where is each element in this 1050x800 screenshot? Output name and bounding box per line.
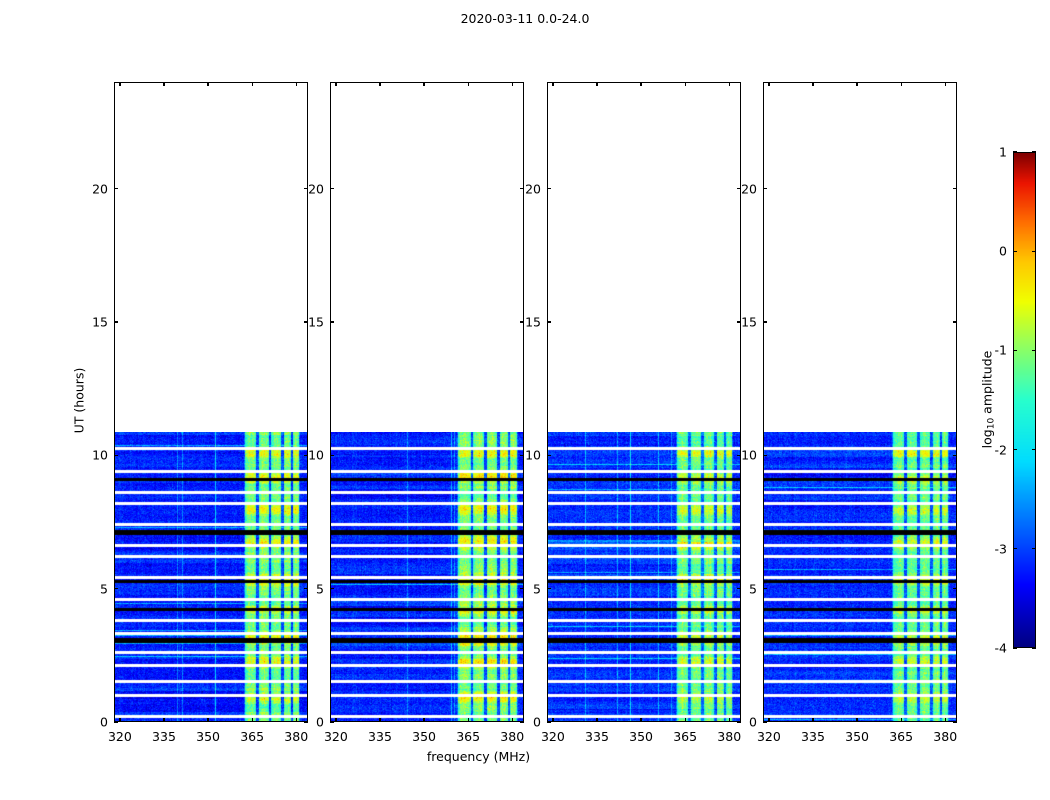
y-tick-label: 20 <box>729 181 757 196</box>
x-tick-mark <box>163 82 164 86</box>
y-tick-mark <box>763 588 767 589</box>
y-tick-mark <box>330 455 334 456</box>
colorbar-tick-label: 0 <box>977 244 1007 259</box>
x-tick-mark <box>335 718 336 722</box>
x-tick-mark <box>640 82 641 86</box>
x-axis-label: frequency (MHz) <box>0 749 957 764</box>
x-tick-mark <box>207 82 208 86</box>
y-tick-label: 0 <box>296 715 324 730</box>
x-tick-label: 335 <box>152 729 176 744</box>
colorbar-tick-mark <box>1032 350 1036 351</box>
colorbar-tick-mark <box>1032 449 1036 450</box>
colorbar-tick-mark <box>1032 251 1036 252</box>
x-tick-mark <box>812 82 813 86</box>
x-tick-label: 380 <box>717 729 741 744</box>
x-tick-mark <box>812 718 813 722</box>
y-tick-mark <box>547 588 551 589</box>
colorbar-tick-mark <box>1013 647 1017 648</box>
spectrogram-image-xy <box>548 432 741 721</box>
y-tick-label: 0 <box>80 715 108 730</box>
x-tick-mark <box>552 718 553 722</box>
x-tick-mark <box>119 718 120 722</box>
x-tick-mark <box>901 718 902 722</box>
colorbar-tick-label: -4 <box>977 641 1007 656</box>
colorbar-tick-mark <box>1013 151 1017 152</box>
colorbar-tick-mark <box>1013 350 1017 351</box>
y-tick-label: 0 <box>513 715 541 730</box>
x-tick-label: 320 <box>757 729 781 744</box>
colorbar-tick-mark <box>1013 449 1017 450</box>
x-tick-mark <box>596 718 597 722</box>
x-tick-mark <box>596 82 597 86</box>
y-tick-label: 15 <box>513 315 541 330</box>
y-tick-mark <box>114 721 118 722</box>
y-tick-label: 0 <box>729 715 757 730</box>
x-tick-label: 365 <box>240 729 264 744</box>
x-tick-label: 320 <box>324 729 348 744</box>
spectrogram-image-yx <box>764 432 957 721</box>
figure-suptitle: 2020-03-11 0.0-24.0 <box>0 11 1050 26</box>
y-tick-mark <box>547 721 551 722</box>
x-tick-label: 380 <box>500 729 524 744</box>
x-tick-mark <box>512 82 513 86</box>
x-tick-mark <box>379 82 380 86</box>
y-tick-mark <box>763 721 767 722</box>
colorbar-tick-mark <box>1013 251 1017 252</box>
y-tick-mark <box>330 188 334 189</box>
y-tick-mark <box>953 188 957 189</box>
colorbar-tick-mark <box>1032 151 1036 152</box>
y-tick-mark <box>114 588 118 589</box>
y-tick-mark <box>953 455 957 456</box>
y-tick-label: 10 <box>513 448 541 463</box>
colorbar-gradient <box>1014 153 1035 647</box>
y-tick-label: 5 <box>729 581 757 596</box>
y-tick-mark <box>547 188 551 189</box>
y-axis-label: UT (hours) <box>72 341 87 461</box>
colorbar-label-text: log10 amplitude <box>980 351 995 449</box>
x-tick-mark <box>768 82 769 86</box>
colorbar[interactable] <box>1013 152 1036 648</box>
spectrogram-panel-xx[interactable]: XX, V6*V9=EA08*EA07 <box>114 82 308 722</box>
y-tick-mark <box>114 321 118 322</box>
y-tick-mark <box>763 188 767 189</box>
x-tick-mark <box>468 82 469 86</box>
spectrogram-panel-yx[interactable]: YX, V6*V9=EA08*EA07 <box>763 82 957 722</box>
x-tick-label: 350 <box>629 729 653 744</box>
y-tick-label: 5 <box>296 581 324 596</box>
x-tick-mark <box>729 82 730 86</box>
spectrogram-panel-yy[interactable]: YY, V6*V9=EA08*EA07 <box>330 82 524 722</box>
x-tick-label: 335 <box>368 729 392 744</box>
x-tick-mark <box>379 718 380 722</box>
colorbar-tick-label: -3 <box>977 541 1007 556</box>
y-tick-label: 5 <box>513 581 541 596</box>
x-tick-mark <box>901 82 902 86</box>
x-tick-mark <box>552 82 553 86</box>
y-tick-mark <box>953 321 957 322</box>
y-tick-mark <box>114 455 118 456</box>
x-tick-mark <box>768 718 769 722</box>
y-tick-label: 15 <box>80 315 108 330</box>
x-tick-label: 380 <box>284 729 308 744</box>
y-tick-label: 10 <box>729 448 757 463</box>
x-tick-mark <box>945 82 946 86</box>
x-tick-label: 350 <box>412 729 436 744</box>
y-tick-mark <box>763 455 767 456</box>
y-tick-mark <box>330 321 334 322</box>
x-tick-label: 320 <box>541 729 565 744</box>
x-tick-mark <box>856 718 857 722</box>
x-tick-label: 380 <box>933 729 957 744</box>
x-tick-label: 365 <box>673 729 697 744</box>
x-tick-mark <box>163 718 164 722</box>
y-tick-mark <box>763 321 767 322</box>
x-tick-mark <box>207 718 208 722</box>
x-tick-mark <box>335 82 336 86</box>
x-tick-mark <box>423 718 424 722</box>
y-tick-label: 10 <box>296 448 324 463</box>
x-tick-label: 365 <box>456 729 480 744</box>
x-tick-mark <box>640 718 641 722</box>
x-tick-mark <box>252 82 253 86</box>
spectrogram-image-xx <box>115 432 308 721</box>
x-tick-mark <box>856 82 857 86</box>
figure-canvas: 2020-03-11 0.0-24.0 XX, V6*V9=EA08*EA07 … <box>0 0 1050 800</box>
y-tick-mark <box>953 588 957 589</box>
x-tick-label: 320 <box>108 729 132 744</box>
y-tick-label: 15 <box>729 315 757 330</box>
colorbar-tick-mark <box>1032 548 1036 549</box>
y-tick-mark <box>330 588 334 589</box>
y-tick-label: 20 <box>80 181 108 196</box>
x-tick-mark <box>296 82 297 86</box>
x-tick-mark <box>119 82 120 86</box>
x-tick-label: 335 <box>801 729 825 744</box>
x-tick-mark <box>468 718 469 722</box>
y-tick-mark <box>547 455 551 456</box>
x-tick-label: 335 <box>585 729 609 744</box>
x-tick-mark <box>423 82 424 86</box>
x-tick-mark <box>945 718 946 722</box>
y-tick-mark <box>547 321 551 322</box>
y-tick-label: 20 <box>296 181 324 196</box>
x-tick-label: 350 <box>845 729 869 744</box>
y-tick-label: 5 <box>80 581 108 596</box>
colorbar-tick-mark <box>1013 548 1017 549</box>
spectrogram-image-yy <box>331 432 524 721</box>
x-tick-mark <box>252 718 253 722</box>
spectrogram-panel-xy[interactable]: XY, V6*V9=EA08*EA07 <box>547 82 741 722</box>
x-tick-mark <box>685 718 686 722</box>
colorbar-label: log10 amplitude <box>980 329 997 469</box>
colorbar-tick-label: 1 <box>977 145 1007 160</box>
x-tick-label: 350 <box>196 729 220 744</box>
x-tick-label: 365 <box>889 729 913 744</box>
colorbar-tick-mark <box>1032 647 1036 648</box>
y-tick-mark <box>330 721 334 722</box>
y-tick-label: 15 <box>296 315 324 330</box>
y-tick-mark <box>114 188 118 189</box>
x-tick-mark <box>685 82 686 86</box>
y-tick-label: 20 <box>513 181 541 196</box>
y-tick-mark <box>953 721 957 722</box>
